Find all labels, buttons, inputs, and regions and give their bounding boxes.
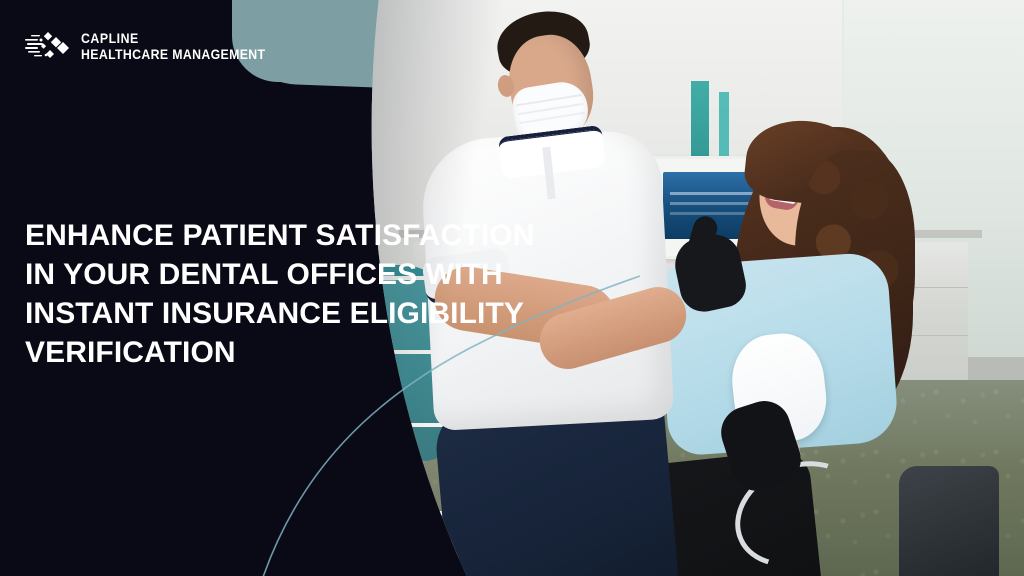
headline-line-1: ENHANCE PATIENT SATISFACTION bbox=[25, 216, 555, 255]
logo-name-line-1: CAPLINE bbox=[81, 31, 265, 47]
dental-stool-post bbox=[379, 438, 387, 530]
headline-line-3: INSTANT INSURANCE ELIGIBILITY bbox=[25, 294, 555, 333]
logo-name-line-2: HEALTHCARE MANAGEMENT bbox=[81, 47, 265, 63]
headline-line-4: VERIFICATION bbox=[25, 333, 555, 372]
headline-line-2: IN YOUR DENTAL OFFICES WITH bbox=[25, 255, 555, 294]
patient-chair-base bbox=[899, 466, 999, 576]
brand-logo[interactable]: CAPLINE HEALTHCARE MANAGEMENT bbox=[25, 30, 291, 64]
headline: ENHANCE PATIENT SATISFACTION IN YOUR DEN… bbox=[25, 216, 555, 372]
capline-diamond-mark-icon bbox=[25, 30, 71, 64]
promo-banner: CAPLINE HEALTHCARE MANAGEMENT ENHANCE PA… bbox=[0, 0, 1024, 576]
